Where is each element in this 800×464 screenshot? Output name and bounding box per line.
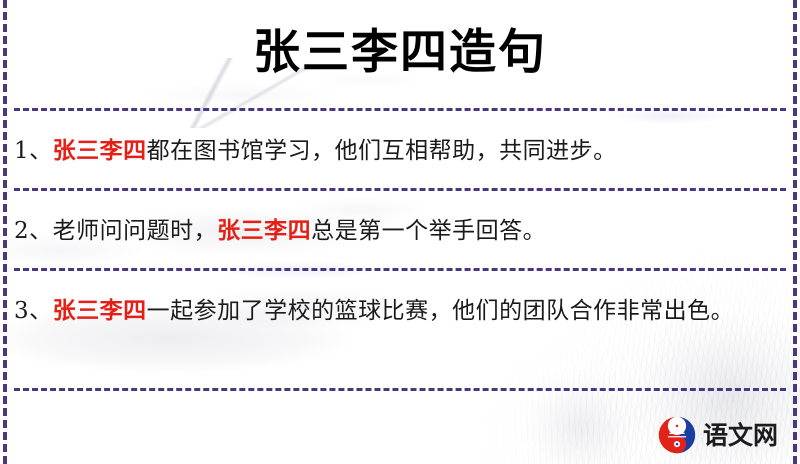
sentence-text: 总是第一个举手回答。 <box>311 218 546 244</box>
divider-3 <box>14 268 786 271</box>
worksheet-page: 张三李四造句 1、张三李四都在图书馆学习，他们互相帮助，共同进步。 2、老师问问… <box>0 0 800 464</box>
title-area: 张三李四造句 <box>0 0 800 108</box>
sentence-text: 一起参加了学校的篮球比赛，他们的团队合作非常出色。 <box>147 298 735 324</box>
sentence-item-2: 2、老师问问题时，张三李四总是第一个举手回答。 <box>14 212 778 250</box>
highlighted-idiom: 张三李四 <box>217 217 311 244</box>
sentence-text: 都在图书馆学习，他们互相帮助，共同进步。 <box>147 138 617 164</box>
divider-1 <box>14 108 786 111</box>
sentence-number: 1、 <box>14 138 53 164</box>
divider-2 <box>14 188 786 191</box>
dashed-border-left <box>3 0 7 464</box>
dashed-border-right <box>793 0 797 464</box>
ink-wash-blue-tint-mid <box>180 252 460 290</box>
sentence-number: 2、 <box>14 218 53 244</box>
logo-text: 语文网 <box>703 423 778 448</box>
yinyang-fish-icon <box>658 416 696 454</box>
divider-4 <box>14 388 786 391</box>
sentence-item-3: 3、张三李四一起参加了学校的篮球比赛，他们的团队合作非常出色。 <box>14 292 778 330</box>
highlighted-idiom: 张三李四 <box>53 137 147 164</box>
sentence-item-1: 1、张三李四都在图书馆学习，他们互相帮助，共同进步。 <box>14 132 778 170</box>
page-title: 张三李四造句 <box>253 29 547 76</box>
sentence-text: 老师问问题时， <box>53 218 218 244</box>
site-logo[interactable]: 语文网 <box>658 416 778 454</box>
sentence-number: 3、 <box>14 298 53 324</box>
highlighted-idiom: 张三李四 <box>53 297 147 324</box>
